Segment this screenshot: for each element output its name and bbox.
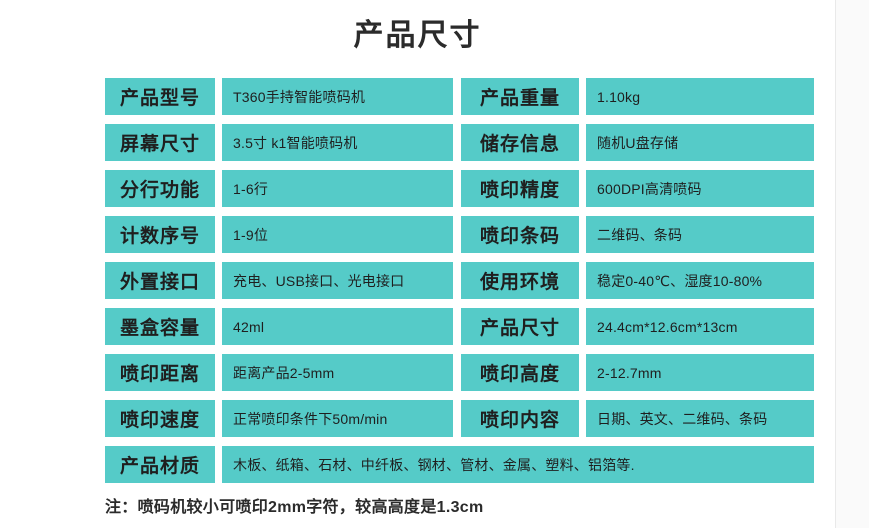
spec-table: 产品型号 T360手持智能喷码机 产品重量 1.10kg 屏幕尺寸 3.5寸 k… bbox=[105, 78, 814, 492]
table-cell-pair-right: 使用环境 稳定0-40℃、湿度10-80% bbox=[461, 262, 814, 299]
table-cell-pair-right: 产品尺寸 24.4cm*12.6cm*13cm bbox=[461, 308, 814, 345]
table-row: 产品型号 T360手持智能喷码机 产品重量 1.10kg bbox=[105, 78, 814, 115]
spec-value: 木板、纸箱、石材、中纤板、钢材、管材、金属、塑料、铝箔等. bbox=[222, 446, 814, 483]
table-cell-pair-left: 喷印距离 距离产品2-5mm bbox=[105, 354, 453, 391]
spec-label: 产品型号 bbox=[105, 78, 215, 115]
table-row: 喷印速度 正常喷印条件下50m/min 喷印内容 日期、英文、二维码、条码 bbox=[105, 400, 814, 437]
spec-value: 正常喷印条件下50m/min bbox=[222, 400, 453, 437]
table-cell-pair-right: 储存信息 随机U盘存储 bbox=[461, 124, 814, 161]
table-cell-pair-left: 墨盒容量 42ml bbox=[105, 308, 453, 345]
spec-label: 使用环境 bbox=[461, 262, 579, 299]
spec-value: 稳定0-40℃、湿度10-80% bbox=[586, 262, 814, 299]
table-cell-pair-right: 喷印高度 2-12.7mm bbox=[461, 354, 814, 391]
table-cell-pair-left: 计数序号 1-9位 bbox=[105, 216, 453, 253]
spec-value: 42ml bbox=[222, 308, 453, 345]
table-row: 喷印距离 距离产品2-5mm 喷印高度 2-12.7mm bbox=[105, 354, 814, 391]
spec-value: 充电、USB接口、光电接口 bbox=[222, 262, 453, 299]
spec-label: 外置接口 bbox=[105, 262, 215, 299]
spec-value: 1.10kg bbox=[586, 78, 814, 115]
table-cell-pair-right: 喷印内容 日期、英文、二维码、条码 bbox=[461, 400, 814, 437]
spec-value: 距离产品2-5mm bbox=[222, 354, 453, 391]
spec-value: 24.4cm*12.6cm*13cm bbox=[586, 308, 814, 345]
spec-label: 喷印高度 bbox=[461, 354, 579, 391]
spec-label: 屏幕尺寸 bbox=[105, 124, 215, 161]
table-cell-pair-left: 产品型号 T360手持智能喷码机 bbox=[105, 78, 453, 115]
table-cell-pair-left: 分行功能 1-6行 bbox=[105, 170, 453, 207]
table-row: 屏幕尺寸 3.5寸 k1智能喷码机 储存信息 随机U盘存储 bbox=[105, 124, 814, 161]
spec-label: 储存信息 bbox=[461, 124, 579, 161]
spec-value: 随机U盘存储 bbox=[586, 124, 814, 161]
spec-value: 600DPI高清喷码 bbox=[586, 170, 814, 207]
table-cell-pair-right: 喷印精度 600DPI高清喷码 bbox=[461, 170, 814, 207]
table-cell-pair-left: 外置接口 充电、USB接口、光电接口 bbox=[105, 262, 453, 299]
table-cell-pair-right: 产品重量 1.10kg bbox=[461, 78, 814, 115]
spec-label: 分行功能 bbox=[105, 170, 215, 207]
spec-label: 喷印距离 bbox=[105, 354, 215, 391]
product-spec-page: 产品尺寸 产品型号 T360手持智能喷码机 产品重量 1.10kg 屏幕尺寸 3… bbox=[0, 0, 835, 528]
spec-label: 喷印精度 bbox=[461, 170, 579, 207]
spec-value: 1-6行 bbox=[222, 170, 453, 207]
spec-label: 喷印内容 bbox=[461, 400, 579, 437]
spec-value: 1-9位 bbox=[222, 216, 453, 253]
table-row: 墨盒容量 42ml 产品尺寸 24.4cm*12.6cm*13cm bbox=[105, 308, 814, 345]
spec-value: 2-12.7mm bbox=[586, 354, 814, 391]
page-gutter bbox=[835, 0, 869, 528]
table-cell-pair-left: 喷印速度 正常喷印条件下50m/min bbox=[105, 400, 453, 437]
table-row: 分行功能 1-6行 喷印精度 600DPI高清喷码 bbox=[105, 170, 814, 207]
spec-label: 产品材质 bbox=[105, 446, 215, 483]
table-row-material: 产品材质 木板、纸箱、石材、中纤板、钢材、管材、金属、塑料、铝箔等. bbox=[105, 446, 814, 483]
spec-label: 产品重量 bbox=[461, 78, 579, 115]
table-row: 外置接口 充电、USB接口、光电接口 使用环境 稳定0-40℃、湿度10-80% bbox=[105, 262, 814, 299]
table-cell-pair-left: 屏幕尺寸 3.5寸 k1智能喷码机 bbox=[105, 124, 453, 161]
spec-label: 墨盒容量 bbox=[105, 308, 215, 345]
table-row: 计数序号 1-9位 喷印条码 二维码、条码 bbox=[105, 216, 814, 253]
spec-value: T360手持智能喷码机 bbox=[222, 78, 453, 115]
spec-label: 计数序号 bbox=[105, 216, 215, 253]
spec-label: 喷印条码 bbox=[461, 216, 579, 253]
page-title: 产品尺寸 bbox=[0, 16, 835, 56]
footer-note: 注：喷码机较小可喷印2mm字符，较高高度是1.3cm bbox=[105, 497, 814, 519]
spec-value: 3.5寸 k1智能喷码机 bbox=[222, 124, 453, 161]
spec-label: 产品尺寸 bbox=[461, 308, 579, 345]
spec-label: 喷印速度 bbox=[105, 400, 215, 437]
table-cell-pair-right: 喷印条码 二维码、条码 bbox=[461, 216, 814, 253]
spec-value: 日期、英文、二维码、条码 bbox=[586, 400, 814, 437]
spec-value: 二维码、条码 bbox=[586, 216, 814, 253]
